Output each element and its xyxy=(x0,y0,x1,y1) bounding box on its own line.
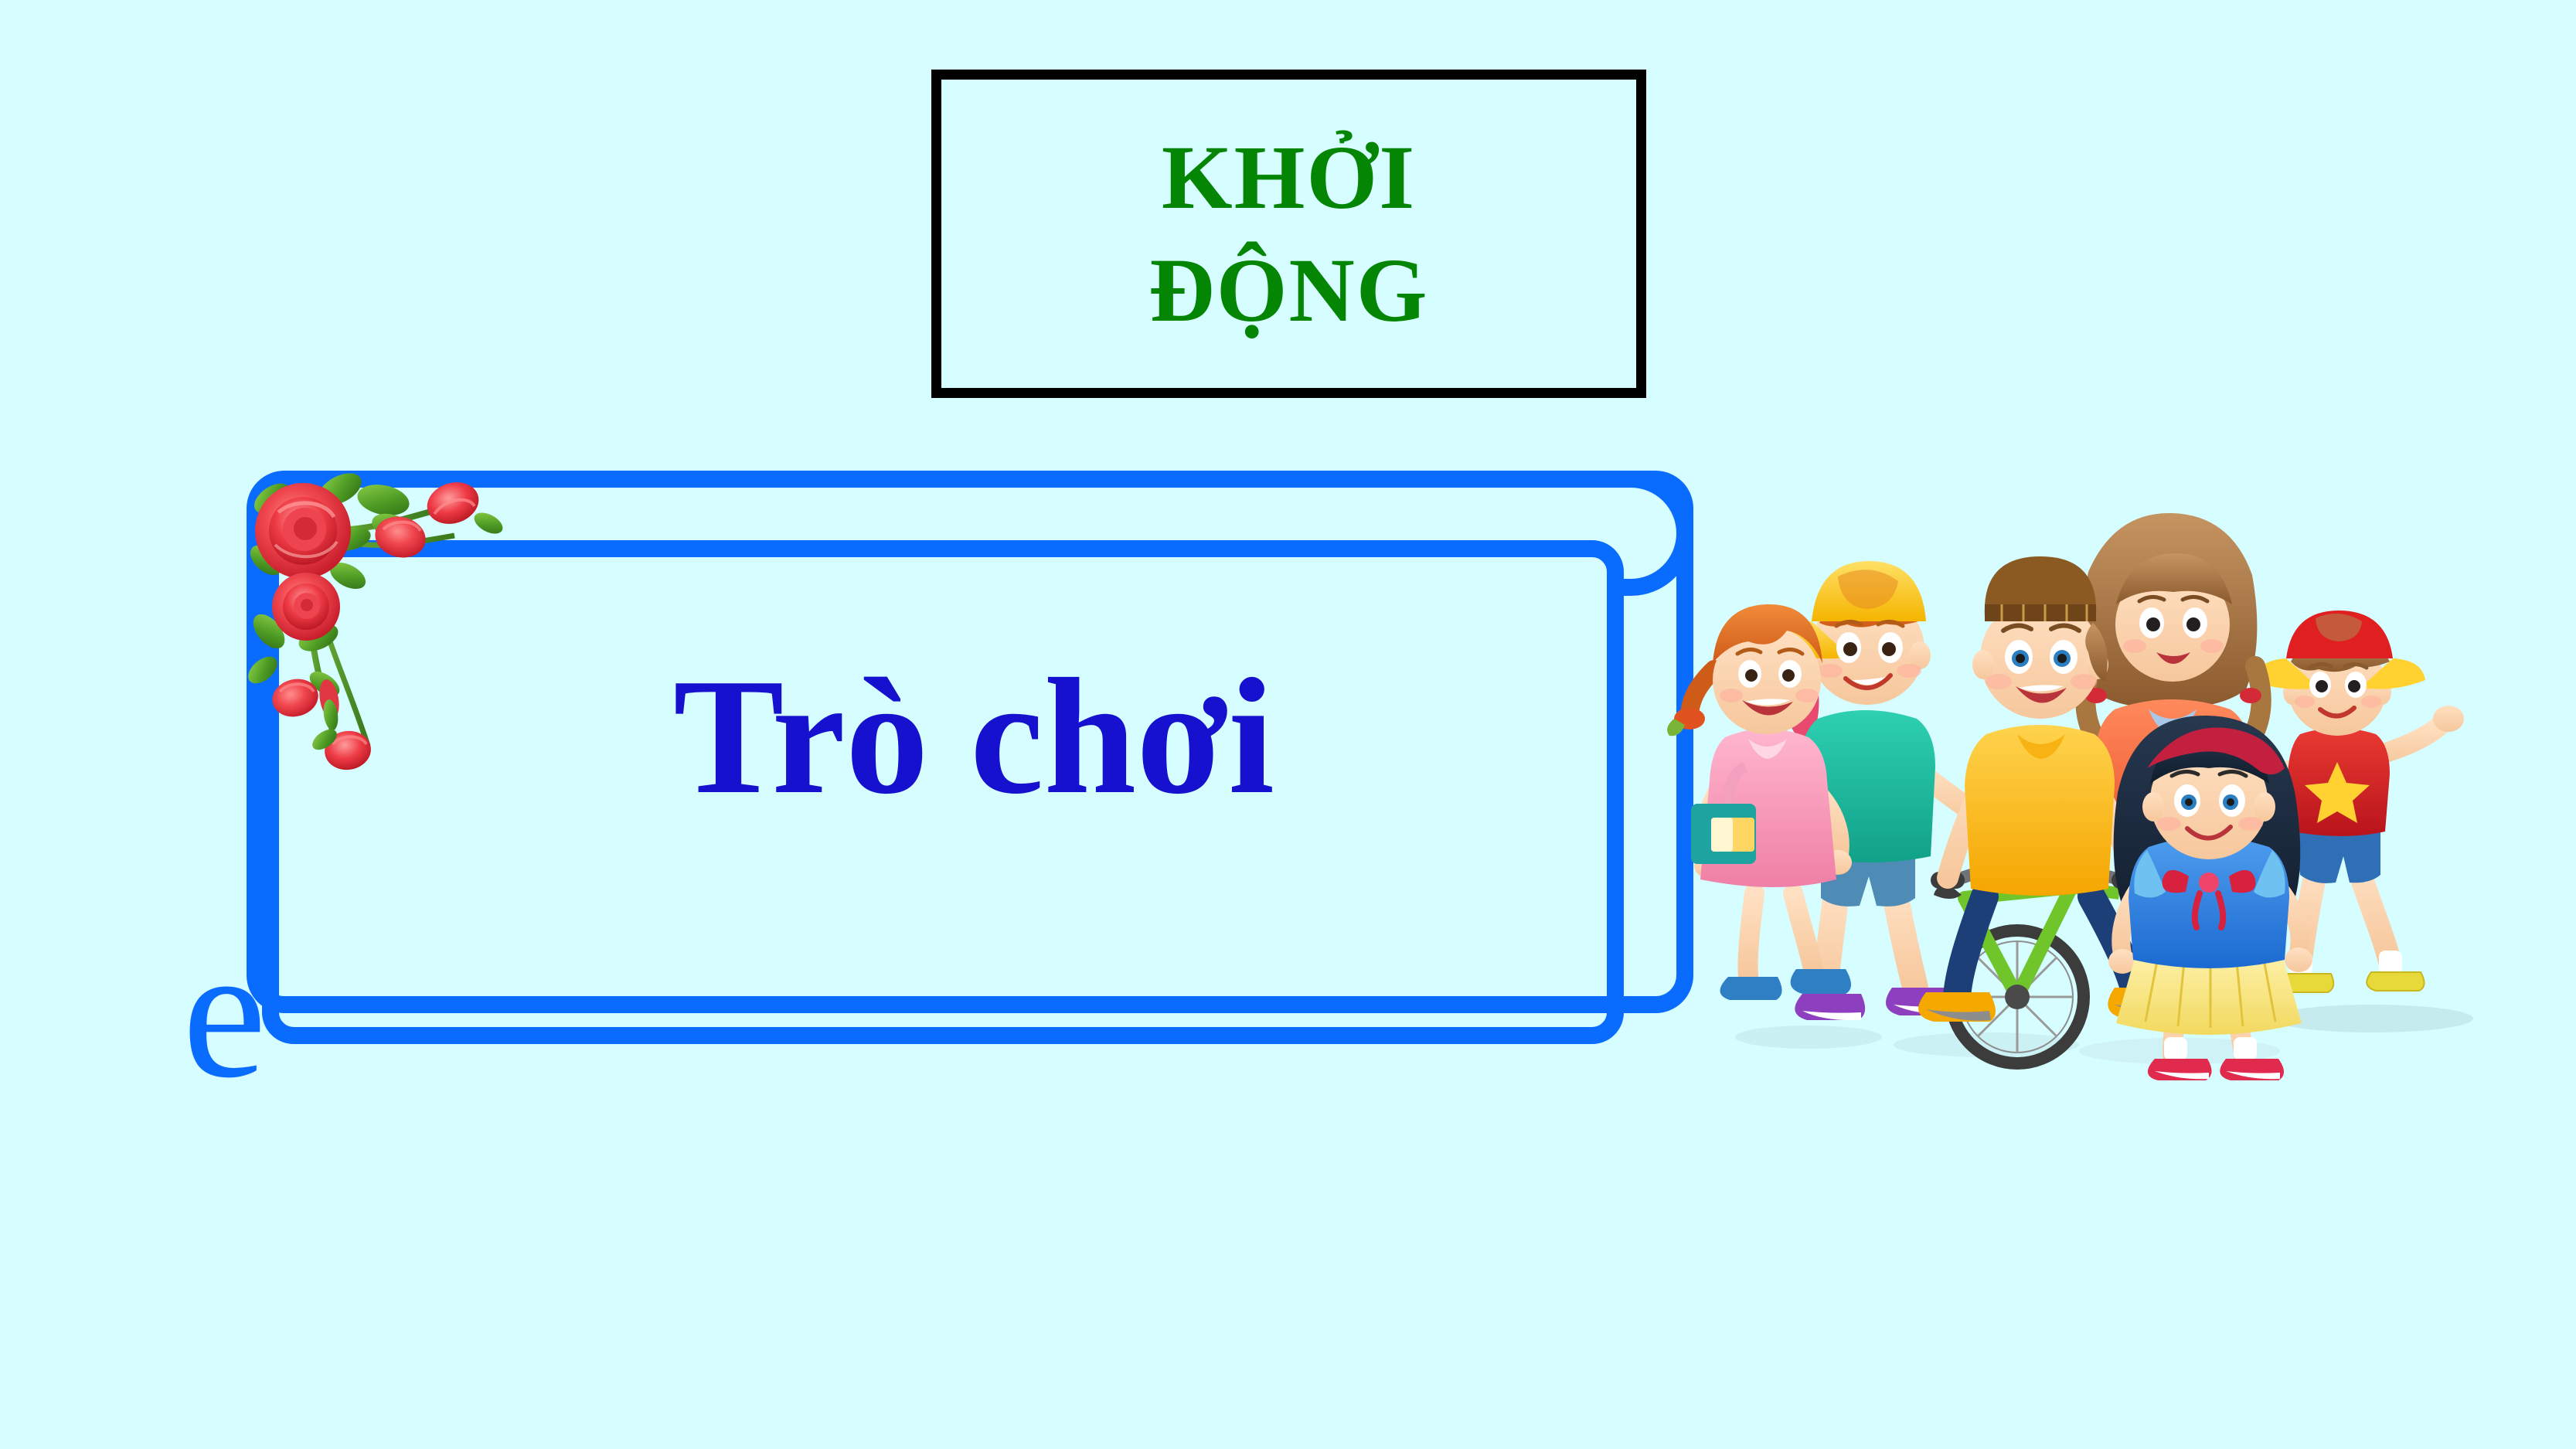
rose-bloom-large xyxy=(255,483,351,579)
pedal xyxy=(2005,985,2030,1009)
sock xyxy=(2164,1037,2187,1060)
svg-text:e: e xyxy=(182,907,267,1117)
rose-bloom-medium xyxy=(272,573,340,641)
roses-corner-decoration xyxy=(232,452,526,777)
rose-bud xyxy=(422,476,506,538)
page-title: Trò chơi xyxy=(510,653,1438,819)
children-illustration xyxy=(1654,464,2527,1082)
slide-canvas: KHỞI ĐỘNG e Trò chơi xyxy=(0,0,2576,1449)
title-line-1: KHỞI xyxy=(1162,124,1416,231)
kid-girl-black-hair-blue-dress xyxy=(2108,716,2312,1080)
shoe xyxy=(1720,977,1781,1000)
hair-tie xyxy=(2240,688,2261,703)
shadow xyxy=(1735,1026,1882,1049)
rose-leaf xyxy=(243,651,282,689)
sock xyxy=(2379,951,2402,974)
title-box: KHỞI ĐỘNG xyxy=(931,70,1646,398)
shoe xyxy=(1791,969,1851,994)
sock xyxy=(2234,1037,2257,1060)
title-line-2: ĐỘNG xyxy=(1149,236,1429,344)
shadow xyxy=(2272,1005,2473,1032)
decorative-e-glyph: e xyxy=(182,907,267,1117)
shoe xyxy=(2367,972,2424,991)
